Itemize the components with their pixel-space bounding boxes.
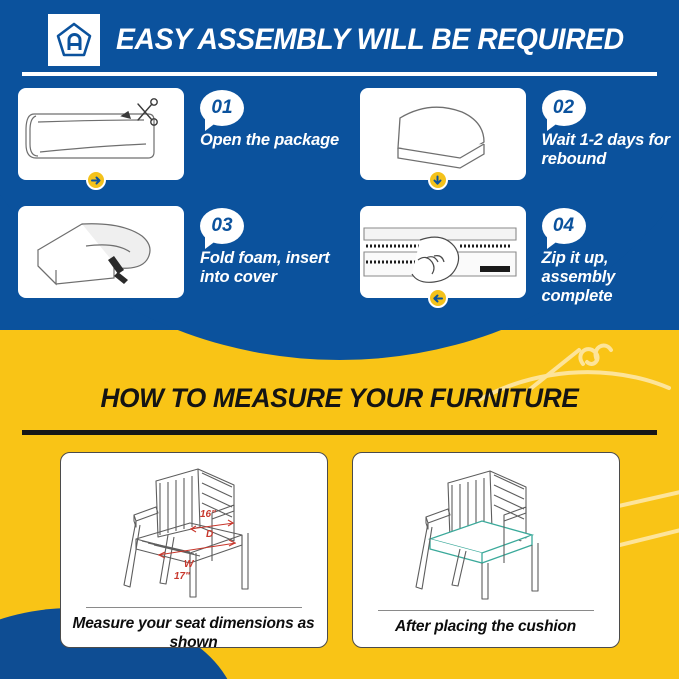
hand-zipping-icon xyxy=(360,206,526,298)
step-number-badge: 04 xyxy=(542,208,586,244)
measure-divider xyxy=(22,430,657,435)
step-number-badge: 02 xyxy=(542,90,586,126)
measure-card-dimensions: 16" D W 17" Measure your seat dimensions… xyxy=(60,452,328,648)
arrow-left-icon xyxy=(428,288,448,308)
page-title: EASY ASSEMBLY WILL BE REQUIRED xyxy=(116,23,624,57)
dimension-label-width-value: 17" xyxy=(174,571,190,582)
arrow-down-icon xyxy=(428,170,448,190)
cushion-foam-icon xyxy=(360,88,526,180)
infographic-page: EASY ASSEMBLY WILL BE REQUIRED xyxy=(0,0,679,679)
step-02: 02 Wait 1-2 days for rebound xyxy=(340,88,679,180)
measure-card-cushion: After placing the cushion xyxy=(352,452,620,648)
step-02-text: 02 Wait 1-2 days for rebound xyxy=(542,88,679,169)
header-divider xyxy=(22,72,657,76)
step-number-badge: 03 xyxy=(200,208,244,244)
step-label: Zip it up, assembly complete xyxy=(542,249,679,306)
dimension-label-depth-letter: D xyxy=(206,529,213,540)
dimension-label-depth-value: 16" xyxy=(200,509,216,520)
step-label: Open the package xyxy=(200,131,339,150)
chair-with-dimensions-icon: 16" D W 17" xyxy=(61,453,327,607)
card-caption: After placing the cushion xyxy=(389,611,582,647)
step-01-text: 01 Open the package xyxy=(200,88,339,150)
step-label: Wait 1-2 days for rebound xyxy=(542,131,679,169)
step-number-badge: 01 xyxy=(200,90,244,126)
chair-with-cushion-icon xyxy=(353,453,619,610)
step-01: 01 Open the package xyxy=(0,88,340,180)
step-row-top: 01 Open the package xyxy=(0,88,679,180)
assembly-steps: 01 Open the package xyxy=(0,88,679,306)
foam-into-cover-icon xyxy=(18,206,184,298)
step-03-text: 03 Fold foam, insert into cover xyxy=(200,206,340,287)
header: EASY ASSEMBLY WILL BE REQUIRED xyxy=(0,0,679,80)
card-caption: Measure your seat dimensions as shown xyxy=(61,608,327,648)
dimension-label-width-letter: W xyxy=(184,559,195,570)
arrow-right-icon xyxy=(86,170,106,190)
rolled-package-with-scissors-icon xyxy=(18,88,184,180)
measure-cards: 16" D W 17" Measure your seat dimensions… xyxy=(0,452,679,648)
step-row-bottom: 03 Fold foam, insert into cover xyxy=(0,206,679,306)
measure-section-title: HOW TO MEASURE YOUR FURNITURE xyxy=(10,383,669,414)
step-03: 03 Fold foam, insert into cover xyxy=(0,206,340,306)
step-04: 04 Zip it up, assembly complete xyxy=(340,206,679,306)
house-pentagon-icon xyxy=(48,14,100,66)
step-label: Fold foam, insert into cover xyxy=(200,249,340,287)
step-04-text: 04 Zip it up, assembly complete xyxy=(542,206,679,306)
